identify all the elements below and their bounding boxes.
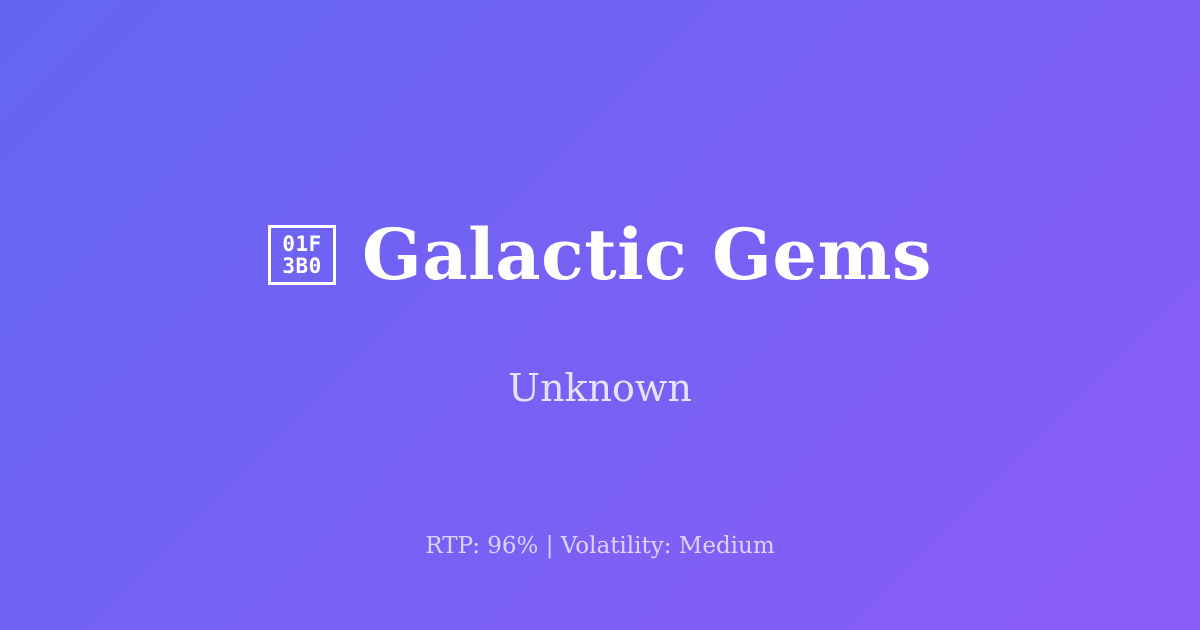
slot-machine-icon: 01F 3B0 bbox=[268, 225, 336, 285]
game-og-card: 01F 3B0 Galactic Gems Unknown RTP: 96% |… bbox=[0, 0, 1200, 630]
title-row: 01F 3B0 Galactic Gems bbox=[268, 218, 932, 292]
page-title: Galactic Gems bbox=[362, 218, 932, 292]
tofu-codepoint-line-1: 01F bbox=[282, 233, 321, 256]
tofu-codepoint-line-2: 3B0 bbox=[282, 255, 321, 278]
game-stats: RTP: 96% | Volatility: Medium bbox=[0, 532, 1200, 562]
game-subtitle: Unknown bbox=[508, 366, 692, 412]
